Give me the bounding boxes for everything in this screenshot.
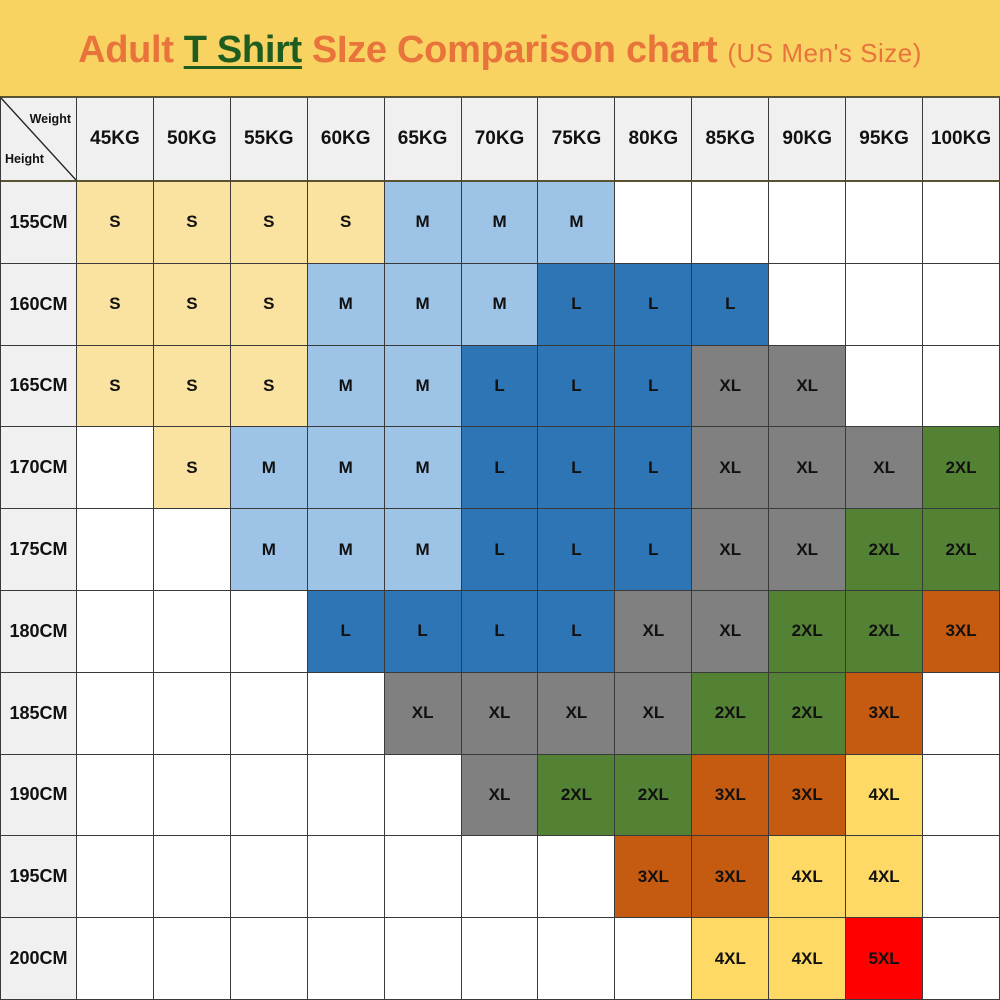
size-cell-empty <box>308 918 385 1000</box>
height-row-label-180cm: 180CM <box>1 591 77 673</box>
title-word-tshirt: T Shirt <box>184 29 302 72</box>
size-cell-l: L <box>538 346 615 428</box>
size-cell-empty <box>615 182 692 264</box>
size-cell-l: L <box>385 591 462 673</box>
size-cell-2xl: 2XL <box>615 755 692 837</box>
size-cell-s: S <box>308 182 385 264</box>
size-cell-empty <box>923 673 1000 755</box>
size-cell-4xl: 4XL <box>769 918 846 1000</box>
weight-header-55kg: 55KG <box>231 98 308 182</box>
size-cell-m: M <box>308 264 385 346</box>
height-axis-label: Height <box>5 152 44 166</box>
size-cell-m: M <box>385 427 462 509</box>
size-cell-empty <box>692 182 769 264</box>
axis-corner-cell: Weight Height <box>1 98 77 182</box>
weight-header-70kg: 70KG <box>462 98 539 182</box>
size-cell-empty <box>77 591 154 673</box>
size-cell-2xl: 2XL <box>769 673 846 755</box>
size-cell-empty <box>846 182 923 264</box>
size-chart-root: Adult T Shirt SIze Comparison chart (US … <box>0 0 1000 1000</box>
size-cell-m: M <box>462 264 539 346</box>
height-row-label-190cm: 190CM <box>1 755 77 837</box>
size-cell-m: M <box>538 182 615 264</box>
height-row-label-165cm: 165CM <box>1 346 77 428</box>
height-row-label-185cm: 185CM <box>1 673 77 755</box>
size-cell-empty <box>846 264 923 346</box>
size-cell-empty <box>308 755 385 837</box>
size-cell-xl: XL <box>769 346 846 428</box>
size-cell-l: L <box>692 264 769 346</box>
size-cell-xl: XL <box>462 673 539 755</box>
size-cell-empty <box>77 673 154 755</box>
height-row-label-155cm: 155CM <box>1 182 77 264</box>
height-row-label-200cm: 200CM <box>1 918 77 1000</box>
size-cell-empty <box>77 509 154 591</box>
size-cell-empty <box>923 918 1000 1000</box>
size-cell-empty <box>615 918 692 1000</box>
size-cell-2xl: 2XL <box>923 509 1000 591</box>
size-cell-s: S <box>77 182 154 264</box>
size-cell-m: M <box>385 509 462 591</box>
size-cell-xl: XL <box>692 346 769 428</box>
size-cell-3xl: 3XL <box>692 836 769 918</box>
size-cell-s: S <box>231 346 308 428</box>
size-cell-empty <box>308 673 385 755</box>
weight-axis-label: Weight <box>30 112 71 126</box>
height-row-label-160cm: 160CM <box>1 264 77 346</box>
size-cell-4xl: 4XL <box>692 918 769 1000</box>
size-cell-empty <box>385 836 462 918</box>
size-cell-s: S <box>154 182 231 264</box>
size-cell-empty <box>923 182 1000 264</box>
size-cell-empty <box>154 591 231 673</box>
size-cell-xl: XL <box>769 427 846 509</box>
size-cell-2xl: 2XL <box>923 427 1000 509</box>
size-cell-3xl: 3XL <box>615 836 692 918</box>
weight-header-95kg: 95KG <box>846 98 923 182</box>
size-cell-2xl: 2XL <box>846 509 923 591</box>
size-cell-xl: XL <box>846 427 923 509</box>
size-cell-xl: XL <box>538 673 615 755</box>
size-cell-l: L <box>538 427 615 509</box>
size-cell-l: L <box>615 509 692 591</box>
size-cell-empty <box>231 673 308 755</box>
weight-header-75kg: 75KG <box>538 98 615 182</box>
title-subtitle: (US Men's Size) <box>727 38 922 69</box>
weight-header-65kg: 65KG <box>385 98 462 182</box>
size-matrix-table: Weight Height 45KG50KG55KG60KG65KG70KG75… <box>0 96 1000 1000</box>
size-cell-4xl: 4XL <box>769 836 846 918</box>
size-cell-s: S <box>231 182 308 264</box>
size-cell-empty <box>538 918 615 1000</box>
size-cell-empty <box>154 918 231 1000</box>
size-cell-empty <box>154 509 231 591</box>
size-cell-m: M <box>308 509 385 591</box>
size-cell-2xl: 2XL <box>846 591 923 673</box>
size-cell-5xl: 5XL <box>846 918 923 1000</box>
weight-header-45kg: 45KG <box>77 98 154 182</box>
size-cell-empty <box>154 755 231 837</box>
size-cell-s: S <box>231 264 308 346</box>
size-cell-l: L <box>538 591 615 673</box>
size-cell-xl: XL <box>769 509 846 591</box>
size-cell-s: S <box>154 346 231 428</box>
size-cell-s: S <box>154 427 231 509</box>
size-cell-empty <box>769 182 846 264</box>
size-cell-m: M <box>231 509 308 591</box>
size-cell-empty <box>308 836 385 918</box>
weight-header-85kg: 85KG <box>692 98 769 182</box>
size-cell-m: M <box>231 427 308 509</box>
size-cell-empty <box>923 346 1000 428</box>
weight-header-100kg: 100KG <box>923 98 1000 182</box>
size-cell-s: S <box>154 264 231 346</box>
weight-header-50kg: 50KG <box>154 98 231 182</box>
size-cell-l: L <box>615 427 692 509</box>
size-cell-l: L <box>462 509 539 591</box>
title-word-comparison: SIze Comparison chart <box>312 29 717 72</box>
size-cell-l: L <box>538 264 615 346</box>
size-cell-xl: XL <box>692 591 769 673</box>
size-cell-3xl: 3XL <box>923 591 1000 673</box>
size-cell-empty <box>462 836 539 918</box>
size-cell-l: L <box>538 509 615 591</box>
title-word-adult: Adult <box>78 29 174 72</box>
size-cell-empty <box>231 836 308 918</box>
size-cell-empty <box>462 918 539 1000</box>
size-cell-s: S <box>77 346 154 428</box>
size-cell-s: S <box>77 264 154 346</box>
size-cell-m: M <box>385 346 462 428</box>
size-cell-m: M <box>462 182 539 264</box>
size-cell-4xl: 4XL <box>846 755 923 837</box>
size-cell-l: L <box>615 264 692 346</box>
size-cell-l: L <box>308 591 385 673</box>
size-cell-empty <box>385 755 462 837</box>
size-cell-empty <box>77 427 154 509</box>
size-cell-m: M <box>385 182 462 264</box>
size-cell-xl: XL <box>692 509 769 591</box>
size-cell-m: M <box>308 346 385 428</box>
size-cell-l: L <box>462 427 539 509</box>
size-cell-2xl: 2XL <box>692 673 769 755</box>
size-cell-empty <box>77 836 154 918</box>
size-cell-xl: XL <box>385 673 462 755</box>
size-cell-2xl: 2XL <box>538 755 615 837</box>
diagonal-divider-icon <box>1 98 76 180</box>
size-cell-m: M <box>308 427 385 509</box>
size-cell-empty <box>923 264 1000 346</box>
size-cell-empty <box>231 591 308 673</box>
size-cell-empty <box>385 918 462 1000</box>
weight-header-80kg: 80KG <box>615 98 692 182</box>
size-cell-empty <box>154 673 231 755</box>
size-cell-empty <box>154 836 231 918</box>
size-cell-xl: XL <box>615 591 692 673</box>
size-cell-4xl: 4XL <box>846 836 923 918</box>
size-cell-empty <box>769 264 846 346</box>
size-cell-l: L <box>462 591 539 673</box>
height-row-label-195cm: 195CM <box>1 836 77 918</box>
size-cell-3xl: 3XL <box>769 755 846 837</box>
size-cell-empty <box>923 755 1000 837</box>
chart-title-banner: Adult T Shirt SIze Comparison chart (US … <box>0 0 1000 96</box>
size-cell-l: L <box>462 346 539 428</box>
size-cell-empty <box>538 836 615 918</box>
size-cell-empty <box>77 755 154 837</box>
size-cell-m: M <box>385 264 462 346</box>
size-cell-empty <box>77 918 154 1000</box>
size-cell-empty <box>846 346 923 428</box>
size-cell-3xl: 3XL <box>692 755 769 837</box>
size-cell-empty <box>923 836 1000 918</box>
size-cell-empty <box>231 755 308 837</box>
height-row-label-175cm: 175CM <box>1 509 77 591</box>
size-cell-l: L <box>615 346 692 428</box>
weight-header-60kg: 60KG <box>308 98 385 182</box>
height-row-label-170cm: 170CM <box>1 427 77 509</box>
size-cell-xl: XL <box>615 673 692 755</box>
weight-header-90kg: 90KG <box>769 98 846 182</box>
size-cell-xl: XL <box>692 427 769 509</box>
size-cell-3xl: 3XL <box>846 673 923 755</box>
size-cell-xl: XL <box>462 755 539 837</box>
size-cell-2xl: 2XL <box>769 591 846 673</box>
size-cell-empty <box>231 918 308 1000</box>
